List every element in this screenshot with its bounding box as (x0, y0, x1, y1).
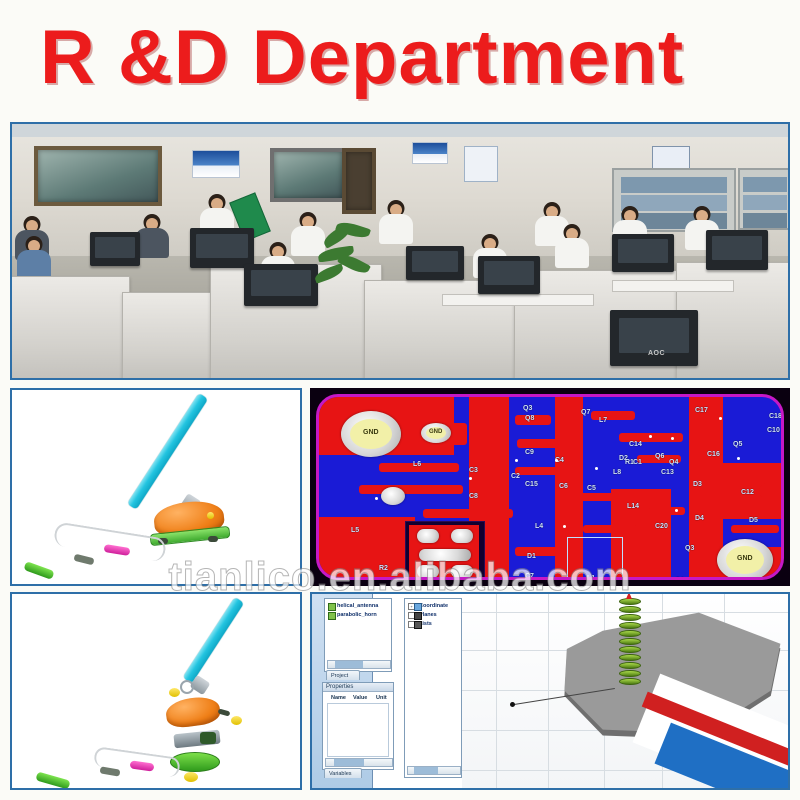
sim-3d-viewport[interactable] (462, 594, 788, 788)
telescopic-pole (127, 393, 208, 510)
excitation-arrow-icon (626, 592, 632, 599)
computer-monitor (406, 246, 464, 280)
computer-monitor (706, 230, 768, 270)
office-door (342, 148, 376, 214)
office-ceiling (12, 124, 788, 137)
exploded-fastener (184, 772, 198, 782)
hose-tip (35, 771, 70, 789)
wall-poster (192, 150, 240, 178)
cad-assembly-canvas (12, 390, 300, 584)
cad-exploded-panel (10, 592, 302, 790)
variables-tab[interactable]: Variables (324, 768, 362, 778)
model-tree-scrollbar[interactable] (407, 766, 461, 775)
cubicle-partition (10, 276, 130, 380)
telescopic-pole (183, 597, 245, 684)
hose-tip (23, 561, 54, 580)
office-window (34, 146, 162, 206)
properties-titlebar: Properties (323, 683, 393, 692)
office-plant (312, 224, 382, 294)
pad-label-gnd: GND (363, 429, 379, 436)
promo-image-root: R &D Department (0, 0, 800, 800)
project-tab[interactable]: Project (326, 670, 360, 680)
monitor-brand-label: AOC (648, 350, 665, 357)
properties-col-value: Value (353, 695, 367, 701)
grip-fitting (73, 554, 94, 566)
wall-notice (464, 146, 498, 182)
properties-scrollbar[interactable] (325, 758, 393, 767)
pcb-layout-panel: GND GND GND L5 L6 Q3 Q8 Q7 L7 C9 C4 C3 C… (310, 388, 790, 586)
properties-window[interactable]: Properties Name Value Unit (322, 682, 394, 770)
exploded-fastener (231, 716, 242, 725)
helical-antenna-model (619, 598, 641, 686)
pole-clip (180, 680, 194, 694)
project-tree-scrollbar[interactable] (327, 660, 391, 669)
office-photo-panel: AOC (10, 122, 790, 380)
cad-exploded-canvas (12, 594, 300, 788)
wall-poster (412, 142, 448, 164)
properties-col-unit: Unit (376, 695, 387, 701)
storage-shelf (738, 168, 790, 230)
dome-fitting (207, 512, 214, 519)
pcb-keepout-outline (567, 537, 623, 579)
office-window (270, 148, 346, 202)
computer-monitor (478, 256, 540, 294)
page-title: R &D Department (40, 18, 684, 98)
cad-assembly-panel (10, 388, 302, 586)
manifold-port (200, 732, 216, 744)
model-tree-window[interactable]: Coordinate Planes Lists + (404, 598, 462, 778)
properties-col-name: Name (331, 695, 346, 701)
title-band: R &D Department (0, 0, 800, 120)
wall-notice (652, 146, 690, 170)
cubicle-ledge (442, 294, 594, 306)
computer-monitor (244, 264, 318, 306)
project-tree-window[interactable]: helical_antenna parabolic_horn (324, 598, 392, 672)
project-item-parabolic-horn[interactable]: parabolic_horn (337, 612, 377, 618)
exploded-fastener (169, 688, 180, 697)
computer-monitor (190, 228, 254, 268)
model-item-coordinate[interactable]: Coordinate (419, 603, 448, 609)
vacuum-head-dome (164, 694, 221, 729)
handle-bar (53, 521, 167, 562)
base-wheel (208, 536, 218, 542)
computer-monitor (612, 234, 674, 272)
computer-monitor (610, 310, 698, 366)
antenna-sim-panel: helical_antenna parabolic_horn Project P… (310, 592, 790, 790)
pad-label-gnd: GND (737, 555, 753, 562)
feed-port-marker (510, 702, 515, 707)
pcb-board: GND GND GND L5 L6 Q3 Q8 Q7 L7 C9 C4 C3 C… (316, 394, 784, 580)
project-item-helical-antenna[interactable]: helical_antenna (337, 603, 378, 609)
cubicle-ledge (612, 280, 734, 292)
pcb-via-pad (381, 487, 405, 505)
pad-label-gnd: GND (429, 429, 442, 435)
cubicle-partition (122, 292, 220, 380)
computer-monitor (90, 232, 140, 266)
